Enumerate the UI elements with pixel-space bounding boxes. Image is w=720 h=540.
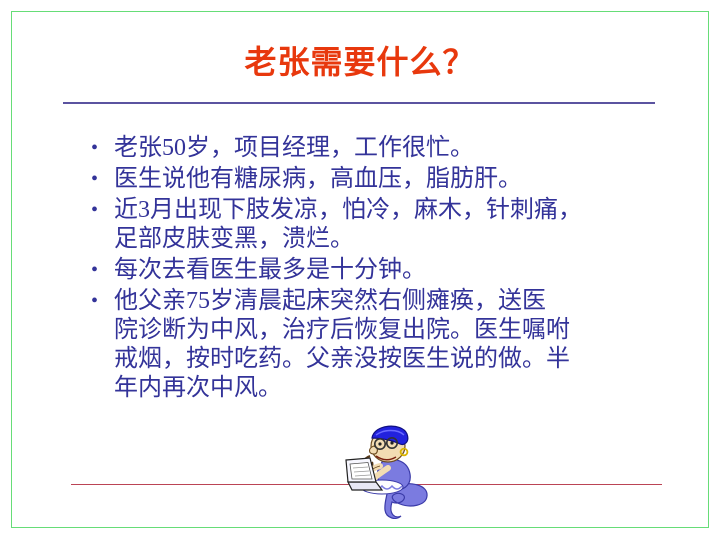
bullet-list: • 老张50岁，项目经理，工作很忙。 • 医生说他有糖尿病，高血压，脂肪肝。 •… (88, 134, 648, 405)
title-divider (63, 102, 655, 104)
bullet-marker-icon: • (88, 196, 114, 225)
list-item-text: 近3月出现下肢发凉，怕冷，麻木，针刺痛，足部皮肤变黑，溃烂。 (114, 196, 648, 254)
slide-canvas: 老张需要什么？ • 老张50岁，项目经理，工作很忙。 • 医生说他有糖尿病，高血… (0, 0, 720, 540)
page-title: 老张需要什么？ (0, 42, 720, 82)
list-item-text: 每次去看医生最多是十分钟。 (114, 256, 648, 285)
list-item-text: 老张50岁，项目经理，工作很忙。 (114, 134, 648, 163)
list-item: • 每次去看医生最多是十分钟。 (88, 256, 648, 285)
list-item: • 老张50岁，项目经理，工作很忙。 (88, 134, 648, 163)
bullet-marker-icon: • (88, 165, 114, 194)
bullet-marker-icon: • (88, 256, 114, 285)
list-item: • 他父亲75岁清晨起床突然右侧瘫痪，送医院诊断为中风，治疗后恢复出院。医生嘱咐… (88, 287, 648, 403)
genie-with-laptop-icon (330, 420, 450, 520)
list-item: • 近3月出现下肢发凉，怕冷，麻木，针刺痛，足部皮肤变黑，溃烂。 (88, 196, 648, 254)
list-item-text: 他父亲75岁清晨起床突然右侧瘫痪，送医院诊断为中风，治疗后恢复出院。医生嘱咐戒烟… (114, 287, 648, 403)
bullet-marker-icon: • (88, 287, 114, 316)
bullet-marker-icon: • (88, 134, 114, 163)
list-item: • 医生说他有糖尿病，高血压，脂肪肝。 (88, 165, 648, 194)
list-item-text: 医生说他有糖尿病，高血压，脂肪肝。 (114, 165, 648, 194)
